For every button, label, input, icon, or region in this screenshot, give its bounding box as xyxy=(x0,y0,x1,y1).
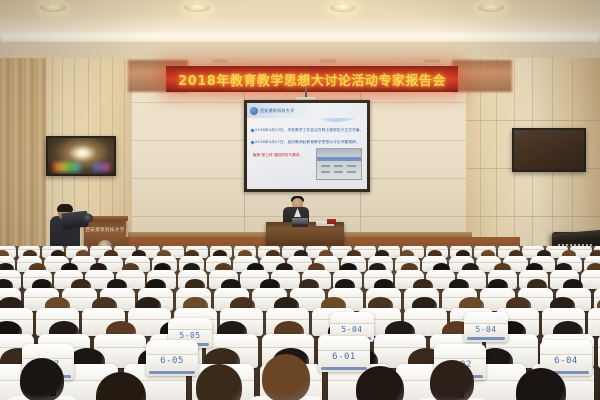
slide-header: 西安建筑科技大学 xyxy=(247,103,367,118)
chair-cap xyxy=(368,256,393,263)
seat-number: 6-05 xyxy=(146,356,198,366)
chair-cap xyxy=(422,256,447,263)
chair-cap xyxy=(287,256,312,263)
chair-cap xyxy=(476,256,501,263)
right-wall-tv xyxy=(512,128,586,172)
chair-cover-numbered: 6-01 xyxy=(318,336,370,372)
chair-cap xyxy=(220,308,263,320)
left-wall-tv xyxy=(46,136,116,176)
chair-cap xyxy=(395,256,420,263)
chair-cap xyxy=(252,288,287,298)
chair-cap xyxy=(0,256,15,263)
chair-cap xyxy=(128,308,171,320)
slide-red-note: 聚焦"新工科"建设的时代要求。 xyxy=(253,153,303,158)
chair-cap xyxy=(518,288,553,298)
ceiling-vent-icon xyxy=(320,59,336,63)
chair-cap xyxy=(434,344,486,359)
chair-sash xyxy=(149,371,195,374)
chair-cap xyxy=(17,256,42,263)
chair-cap xyxy=(44,256,69,263)
lecture-hall-photo: 2018年教育教学思想大讨论活动专家报告会 西安建筑科技大学 2018年4月23… xyxy=(0,0,600,400)
chair-cap xyxy=(22,344,74,359)
slide-bullet-2: 2018年4月27日，组织教师赴教育教学思想大讨论专题调研。 xyxy=(255,140,360,145)
chair-cap xyxy=(290,288,325,298)
chair-cap xyxy=(36,308,79,320)
chair-cap xyxy=(262,334,314,348)
tv-glare-rainbow xyxy=(53,162,79,171)
chair-cap xyxy=(266,308,309,320)
chair-cap xyxy=(374,334,426,348)
chair-cap xyxy=(588,308,600,320)
chair-cap xyxy=(594,288,600,298)
slide-university-name: 西安建筑科技大学 xyxy=(260,107,294,113)
projection-screen: 西安建筑科技大学 2018年4月23日，学校教学工作会议在院士楼报告厅正式开幕。… xyxy=(244,100,370,192)
chair-cap xyxy=(271,270,300,278)
university-logo-icon xyxy=(250,107,258,115)
chair-cap xyxy=(464,312,508,324)
chair-cap xyxy=(206,334,258,348)
chair-cap xyxy=(125,256,150,263)
red-book xyxy=(327,219,336,224)
chair-cover-numbered: 6-05 xyxy=(146,340,198,376)
chair-cap xyxy=(260,256,285,263)
chair-cap xyxy=(330,312,374,324)
chair-cap xyxy=(209,270,238,278)
seat-number: 6-04 xyxy=(540,356,592,366)
chair-cap xyxy=(333,270,362,278)
chair-cap xyxy=(570,246,592,250)
chair-cap xyxy=(540,340,592,355)
chair-sash xyxy=(467,337,506,340)
chair-cap xyxy=(147,270,176,278)
chair-cap xyxy=(146,340,198,355)
chair-cap xyxy=(395,270,424,278)
tv-glare-rainbow-2 xyxy=(93,163,110,172)
chair-sash xyxy=(321,367,367,370)
chair-cap xyxy=(341,256,366,263)
chair-cap xyxy=(550,270,579,278)
downlight-icon xyxy=(330,3,356,12)
foreground-head xyxy=(20,358,64,400)
laptop-screen xyxy=(292,218,308,224)
seat-number: 5-04 xyxy=(464,325,508,334)
foreground-head xyxy=(430,360,474,400)
chair-cap xyxy=(557,256,582,263)
chair-cap xyxy=(85,270,114,278)
piano-lid xyxy=(552,230,600,243)
right-tv-screen xyxy=(514,130,584,170)
chair-cap xyxy=(71,256,96,263)
video-camera-icon xyxy=(61,211,89,230)
chair-cap xyxy=(206,256,231,263)
downlight-icon xyxy=(478,3,504,12)
chair-cover-numbered: 5-04 xyxy=(464,312,508,342)
lectern-sign-text: 西安建筑科技大学 xyxy=(89,226,121,233)
chair-cap xyxy=(480,288,515,298)
seat-number: 6-01 xyxy=(318,352,370,362)
chair-cap xyxy=(519,270,548,278)
chair-cap xyxy=(114,246,136,250)
chair-cap xyxy=(116,270,145,278)
foreground-head xyxy=(262,354,310,400)
chair-cap xyxy=(330,246,352,250)
window-curtain xyxy=(0,58,46,268)
slide-embedded-image xyxy=(316,148,362,180)
chair-cap xyxy=(404,308,447,320)
ceiling-vent-icon xyxy=(424,59,440,63)
chair-cap xyxy=(488,270,517,278)
chair-cap xyxy=(94,334,146,348)
seat-number: 5-04 xyxy=(330,325,374,334)
chair-cover xyxy=(588,308,600,336)
chair-cap xyxy=(542,308,585,320)
chair-cap xyxy=(318,336,370,351)
chair-cap xyxy=(426,270,455,278)
banner-right-end xyxy=(452,60,512,92)
downlight-icon xyxy=(184,3,210,12)
chair-cap xyxy=(240,270,269,278)
chair-cap xyxy=(0,270,21,278)
slide-surface: 西安建筑科技大学 2018年4月23日，学校教学工作会议在院士楼报告厅正式开幕。… xyxy=(247,103,367,189)
audience-area: 5-055-045-046-076-056-016-026-04 xyxy=(0,246,600,400)
cameraman-hair xyxy=(57,204,73,212)
led-banner: 2018年教育教学思想大讨论活动专家报告会 xyxy=(166,66,458,92)
seat-number: 5-05 xyxy=(168,331,212,340)
slide-bullet-1: 2018年4月23日，学校教学工作会议在院士楼报告厅正式开幕。 xyxy=(255,128,363,133)
chair-cap xyxy=(168,318,212,330)
laptop-icon xyxy=(292,218,308,227)
chair-cap xyxy=(54,270,83,278)
chair-cap xyxy=(364,270,393,278)
banner-text: 2018年教育教学思想大讨论活动专家报告会 xyxy=(178,70,446,89)
chair-cap xyxy=(584,256,600,263)
chair-cap xyxy=(457,270,486,278)
chair-cover xyxy=(581,270,600,289)
chair-cap xyxy=(503,256,528,263)
chair-cap xyxy=(581,270,600,278)
ceiling-vent-icon xyxy=(212,59,228,63)
downlight-icon xyxy=(40,3,66,12)
chair-cap xyxy=(98,256,123,263)
chair-cap xyxy=(314,256,339,263)
left-tv-screen xyxy=(48,138,114,174)
chair-cap xyxy=(152,256,177,263)
chair-cap xyxy=(302,270,331,278)
chair-cap xyxy=(0,308,33,320)
chair-cap xyxy=(82,308,125,320)
chair-cap xyxy=(178,270,207,278)
chair-cap xyxy=(138,288,173,298)
chair-cap xyxy=(62,288,97,298)
chair-cap xyxy=(23,270,52,278)
